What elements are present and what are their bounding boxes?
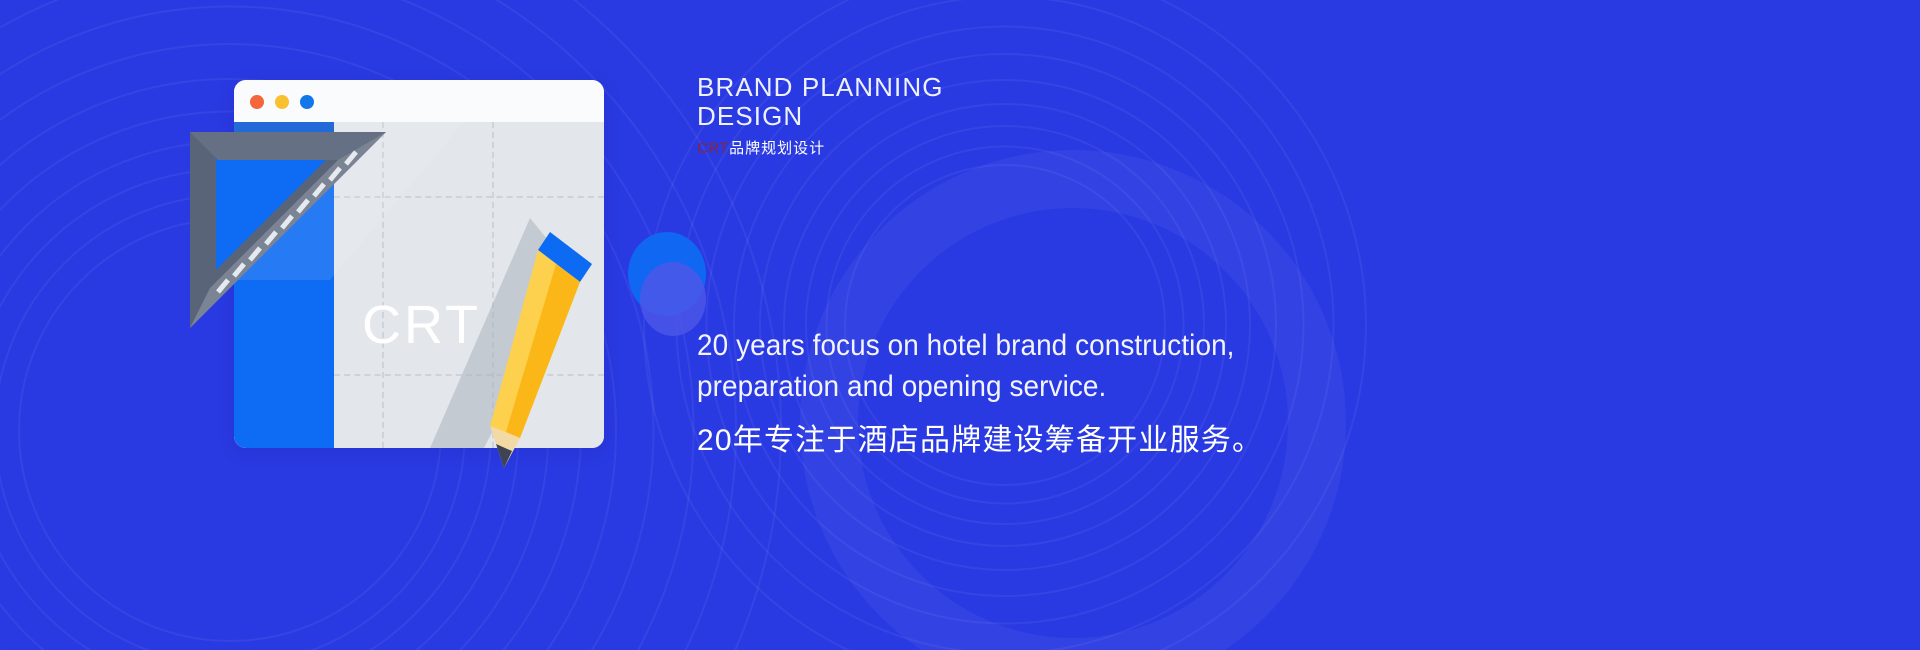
pencil-icon — [488, 230, 598, 470]
brand-banner: CRT — [0, 0, 1920, 650]
heading-line-2: DESIGN — [697, 102, 1317, 131]
subheading-brand: CRT — [697, 140, 729, 157]
brand-design-illustration: CRT — [188, 80, 688, 480]
heading-block: BRAND PLANNING DESIGN CRT品牌规划设计 — [697, 73, 1317, 159]
tagline-chinese: 20年专注于酒店品牌建设筹备开业服务。 — [697, 421, 1437, 461]
tagline-english-line-2: preparation and opening service. — [697, 366, 1385, 407]
subheading-text: 品牌规划设计 — [729, 140, 825, 157]
tagline-block: 20 years focus on hotel brand constructi… — [697, 325, 1437, 461]
heading-line-1: BRAND PLANNING — [697, 73, 1317, 102]
tagline-english-line-1: 20 years focus on hotel brand constructi… — [697, 325, 1385, 366]
subheading: CRT品牌规划设计 — [697, 139, 1317, 159]
set-square-ruler-icon — [188, 130, 388, 330]
